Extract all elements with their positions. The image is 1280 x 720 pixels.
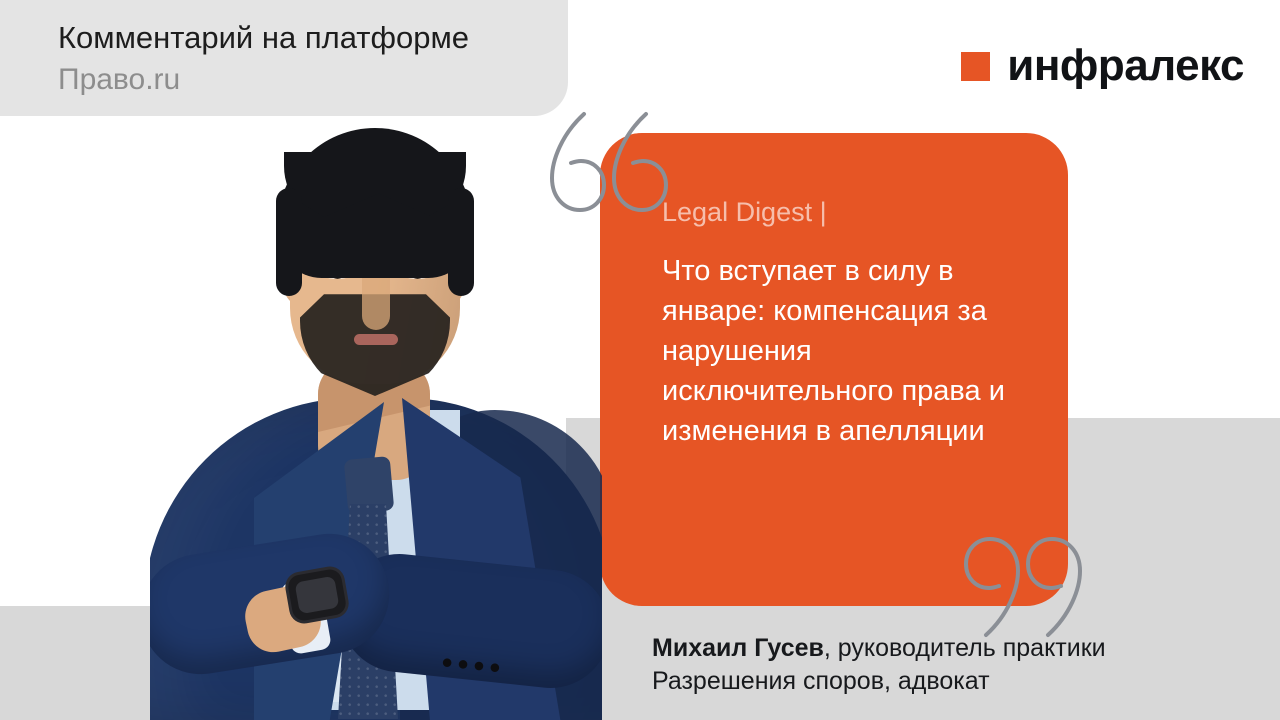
digest-kicker: Legal Digest | [662,195,1024,229]
nose-shape [362,278,390,330]
mouth-shape [354,334,398,345]
digest-card: Legal Digest | Что вступает в силу в янв… [600,133,1068,606]
source-banner: Комментарий на платформе Право.ru [0,0,568,116]
speaker-name: Михаил Гусев [652,634,824,662]
digest-title: Что вступает в силу в январе: компенсаци… [662,251,1024,451]
speaker-caption-line-1: Михаил Гусев, руководитель практики [652,632,1252,665]
portrait-photo [150,92,602,720]
brand-logo-text: инфралекс [1007,44,1244,88]
hair-side-right [448,188,474,296]
hair-side-left [276,188,302,296]
orange-square-icon [961,52,990,81]
source-banner-title: Комментарий на платформе [58,18,469,58]
slide-canvas: Legal Digest | Что вступает в силу в янв… [0,0,1280,720]
speaker-role-part-1: , руководитель практики [824,634,1106,662]
brand-logo: инфралекс [961,44,1244,88]
speaker-caption: Михаил Гусев, руководитель практики Разр… [652,632,1252,698]
digest-card-content: Legal Digest | Что вступает в силу в янв… [662,195,1024,451]
source-banner-subtitle: Право.ru [58,61,180,99]
speaker-caption-line-2: Разрешения споров, адвокат [652,665,1252,698]
